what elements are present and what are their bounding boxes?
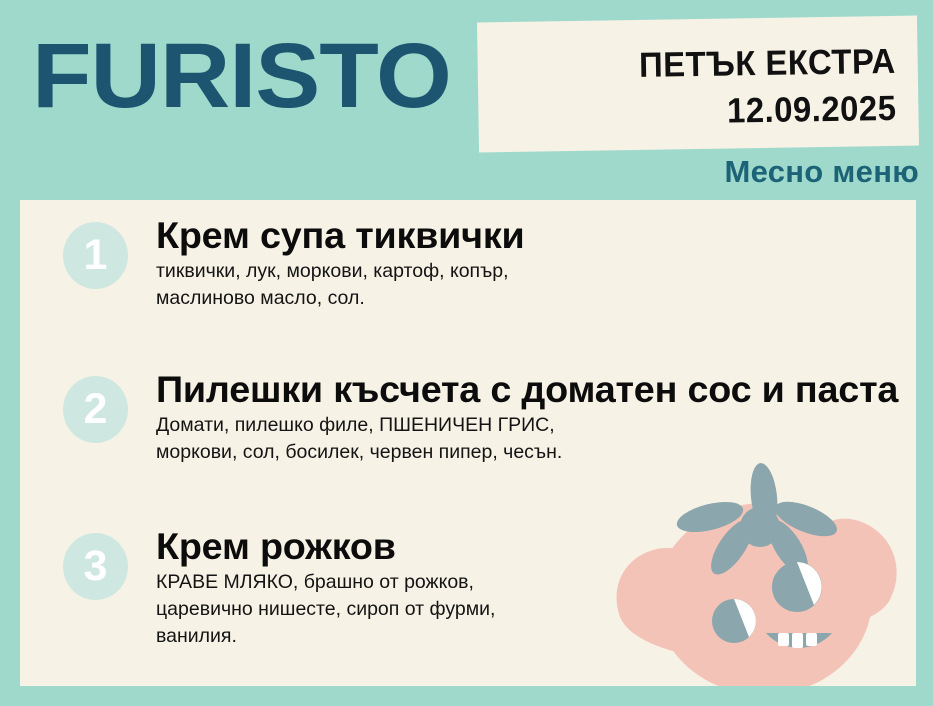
menu-card: 1 Крем супа тиквички тиквички, лук, морк… [20, 200, 916, 686]
menu-item-number-badge: 1 [63, 222, 128, 289]
menu-item-ingredients: Домати, пилешко филе, ПШЕНИЧЕН ГРИС, мор… [156, 412, 916, 466]
menu-kind-label: Месно меню [724, 155, 919, 189]
date-panel: ПЕТЪК ЕКСТРА 12.09.2025 [477, 16, 919, 153]
promo-date: 12.09.2025 [503, 85, 897, 138]
menu-item-body: Пилешки късчета с доматен сос и паста До… [156, 370, 916, 466]
menu-item-title: Крем рожков [156, 527, 916, 567]
menu-item-title: Пилешки късчета с доматен сос и паста [156, 370, 916, 410]
menu-poster: FURISTO ПЕТЪК ЕКСТРА 12.09.2025 Месно ме… [0, 0, 933, 706]
menu-item-body: Крем супа тиквички тиквички, лук, морков… [156, 216, 916, 312]
menu-item-number-badge: 3 [63, 533, 128, 600]
menu-item-title: Крем супа тиквички [156, 216, 916, 256]
menu-item-number-badge: 2 [63, 376, 128, 443]
menu-item-body: Крем рожков КРАВЕ МЛЯКО, брашно от рожко… [156, 527, 916, 650]
menu-item-ingredients: КРАВЕ МЛЯКО, брашно от рожков, царевично… [156, 569, 916, 650]
menu-item-ingredients: тиквички, лук, моркови, картоф, копър, м… [156, 258, 916, 312]
poster-header: FURISTO ПЕТЪК ЕКСТРА 12.09.2025 Месно ме… [0, 0, 933, 200]
brand-logo: FURISTO [32, 30, 451, 122]
promo-title: ПЕТЪК ЕКСТРА [502, 38, 896, 91]
